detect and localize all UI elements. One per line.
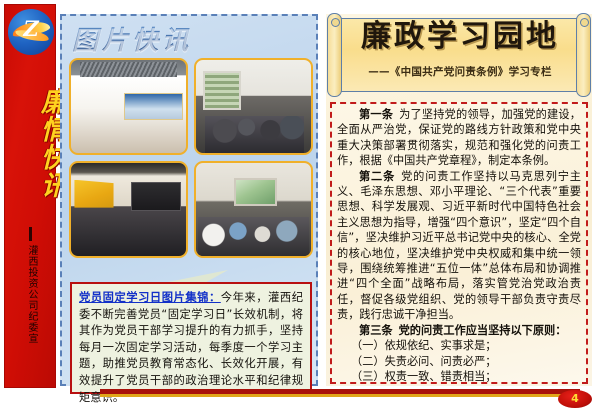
photo-panel-heading: 图片快讯 xyxy=(72,20,192,57)
page-number-badge: 4 xyxy=(558,390,592,408)
photo-small-office-discussion xyxy=(194,58,313,155)
banner-dash-rule xyxy=(29,227,32,241)
list-item: （一）依规依纪、实事求是； xyxy=(337,338,581,353)
article-2-number: 第二条 xyxy=(359,170,395,183)
list-item: （三）权责一致、错责相当； xyxy=(337,369,581,384)
scroll-right-roller-icon xyxy=(576,13,591,97)
article-2-text: 党的问责工作坚持以马克思列宁主义、毛泽东思想、邓小平理论、“三个代表”重要思想、… xyxy=(337,170,581,322)
article-1: 第一条为了坚持党的领导，加强党的建设，全面从严治党，保证党的路线方针政策和党中央… xyxy=(337,107,581,169)
article-3: 第三条党的问责工作应当坚持以下原则： （一）依规依纪、实事求是； （二）失责必问… xyxy=(337,323,581,384)
photo-caption-box: 党员固定学习日图片集锦：今年来，灌西纪委不断完善党员“固定学习日”长效机制，将其… xyxy=(70,282,312,394)
photo-auditorium-projector-screen xyxy=(194,161,313,258)
list-item: （二）失责必问、问责必严； xyxy=(337,354,581,369)
footer-gold-rule xyxy=(100,394,580,397)
caption-text: 今年来，灌西纪委不断完善党员“固定学习日”长效机制，将其作为党员干部学习提升的有… xyxy=(79,291,303,404)
study-panel-title: 廉政学习园地 xyxy=(342,20,578,54)
study-panel-subtitle: ——《中国共产党问责条例》学习专栏 xyxy=(342,64,578,79)
photo-yellow-hall-video-study xyxy=(69,161,188,258)
article-3-heading: 党的问责工作应当坚持以下原则： xyxy=(399,324,567,337)
caption-lead-label: 党员固定学习日图片集锦： xyxy=(79,291,221,304)
article-2: 第二条党的问责工作坚持以马克思列宁主义、毛泽东思想、邓小平理论、“三个代表”重要… xyxy=(337,169,581,323)
company-circle-logo-icon: Z xyxy=(8,9,54,55)
logo-letter: Z xyxy=(19,19,43,41)
photo-news-panel: 图片快讯 党员固定学习日图片集锦：今年来，灌西纪委不断完善党员“固定学习日”长效… xyxy=(60,14,318,386)
scroll-left-roller-icon xyxy=(327,13,342,97)
newsletter-page: Z 廉情快讯 灌西投资公司纪委宣 图片快讯 党员固定学习日图片集锦：今年来，灌西… xyxy=(0,0,600,410)
article-3-number: 第三条 xyxy=(359,324,393,337)
regulation-text-body: 第一条为了坚持党的领导，加强党的建设，全面从严治党，保证党的路线方针政策和党中央… xyxy=(330,102,588,384)
left-masthead-banner: Z 廉情快讯 灌西投资公司纪委宣 xyxy=(4,4,56,388)
study-title-scroll: 廉政学习园地 ——《中国共产党问责条例》学习专栏 xyxy=(326,8,592,94)
article-3-principles-list: （一）依规依纪、实事求是； （二）失责必问、问责必严； （三）权责一致、错责相当… xyxy=(337,338,581,384)
article-1-number: 第一条 xyxy=(359,108,393,121)
banner-publisher-credit: 灌西投资公司纪委宣 xyxy=(25,245,38,375)
photo-meeting-room-exhibition-hall xyxy=(69,58,188,155)
photo-grid xyxy=(69,58,313,258)
